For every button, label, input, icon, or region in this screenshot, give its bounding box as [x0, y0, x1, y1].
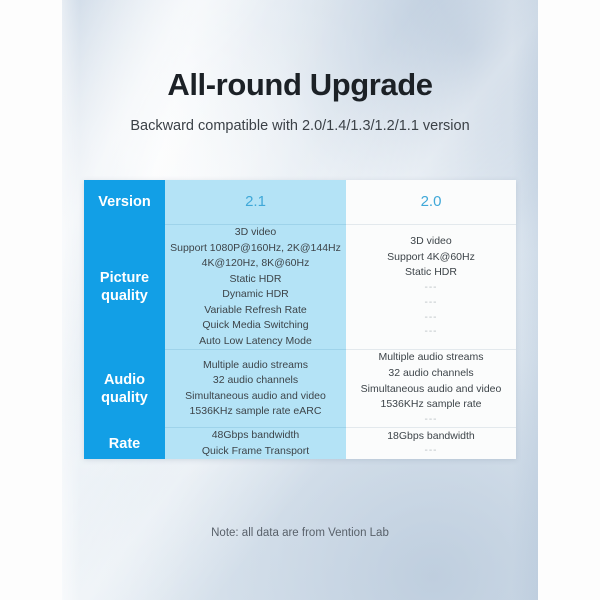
spec-line: Quick Frame Transport — [165, 444, 346, 460]
spec-line: Auto Low Latency Mode — [165, 334, 346, 350]
spec-line: 18Gbps bandwidth — [346, 429, 516, 445]
comparison-table: Version 2.1 2.0 Picture quality 3D video… — [84, 180, 516, 459]
spec-line-placeholder: --- — [346, 444, 516, 459]
cell-picture-quality-v20: 3D video Support 4K@60Hz Static HDR --- … — [346, 225, 516, 350]
spec-line: Static HDR — [346, 265, 516, 281]
spec-line: Static HDR — [165, 272, 346, 288]
cell-rate-v21: 48Gbps bandwidth Quick Frame Transport — [165, 428, 346, 460]
footer-note: Note: all data are from Vention Lab — [62, 527, 538, 539]
cell-rate-v20: 18Gbps bandwidth --- — [346, 428, 516, 460]
table-header-version-20: 2.0 — [346, 180, 516, 225]
table-row: Rate 48Gbps bandwidth Quick Frame Transp… — [84, 428, 516, 460]
spec-line: 1536KHz sample rate eARC — [165, 404, 346, 420]
spec-line: 48Gbps bandwidth — [165, 428, 346, 444]
spec-line: 32 audio channels — [165, 373, 346, 389]
spec-line: Simultaneous audio and video — [346, 382, 516, 398]
row-label-picture-quality: Picture quality — [84, 225, 165, 350]
spec-line: Variable Refresh Rate — [165, 303, 346, 319]
spec-line: Dynamic HDR — [165, 287, 346, 303]
row-label-line-1: Rate — [109, 436, 140, 452]
cell-audio-quality-v21: Multiple audio streams 32 audio channels… — [165, 350, 346, 428]
spec-line: Multiple audio streams — [165, 358, 346, 374]
row-label-audio-quality: Audio quality — [84, 350, 165, 428]
spec-line-placeholder: --- — [346, 311, 516, 326]
spec-line: 4K@120Hz, 8K@60Hz — [165, 256, 346, 272]
row-label-line-2: quality — [101, 288, 148, 304]
spec-line: Support 1080P@160Hz, 2K@144Hz — [165, 241, 346, 257]
row-label-line-1: Audio — [104, 372, 145, 388]
spec-line: 3D video — [165, 225, 346, 241]
spec-line-placeholder: --- — [346, 296, 516, 311]
page-title: All-round Upgrade — [62, 66, 538, 103]
cell-audio-quality-v20: Multiple audio streams 32 audio channels… — [346, 350, 516, 428]
table-header-version-21: 2.1 — [165, 180, 346, 225]
spec-line-placeholder: --- — [346, 325, 516, 340]
row-label-line-1: Picture — [100, 270, 149, 286]
spec-line: 32 audio channels — [346, 366, 516, 382]
spec-line: Multiple audio streams — [346, 350, 516, 366]
page-root: All-round Upgrade Backward compatible wi… — [0, 0, 600, 600]
spec-line: Simultaneous audio and video — [165, 389, 346, 405]
table-header-row: Version 2.1 2.0 — [84, 180, 516, 225]
table-row: Audio quality Multiple audio streams 32 … — [84, 350, 516, 428]
table-header-label: Version — [84, 180, 165, 225]
table-row: Picture quality 3D video Support 1080P@1… — [84, 225, 516, 350]
cell-picture-quality-v21: 3D video Support 1080P@160Hz, 2K@144Hz 4… — [165, 225, 346, 350]
spec-line-placeholder: --- — [346, 281, 516, 296]
spec-line: Quick Media Switching — [165, 318, 346, 334]
spec-line: Support 4K@60Hz — [346, 250, 516, 266]
page-subtitle: Backward compatible with 2.0/1.4/1.3/1.2… — [62, 116, 538, 137]
row-label-rate: Rate — [84, 428, 165, 460]
spec-line: 1536KHz sample rate — [346, 397, 516, 413]
heading-block: All-round Upgrade Backward compatible wi… — [62, 66, 538, 137]
row-label-line-2: quality — [101, 390, 148, 406]
spec-line: 3D video — [346, 234, 516, 250]
spec-line-placeholder: --- — [346, 413, 516, 428]
